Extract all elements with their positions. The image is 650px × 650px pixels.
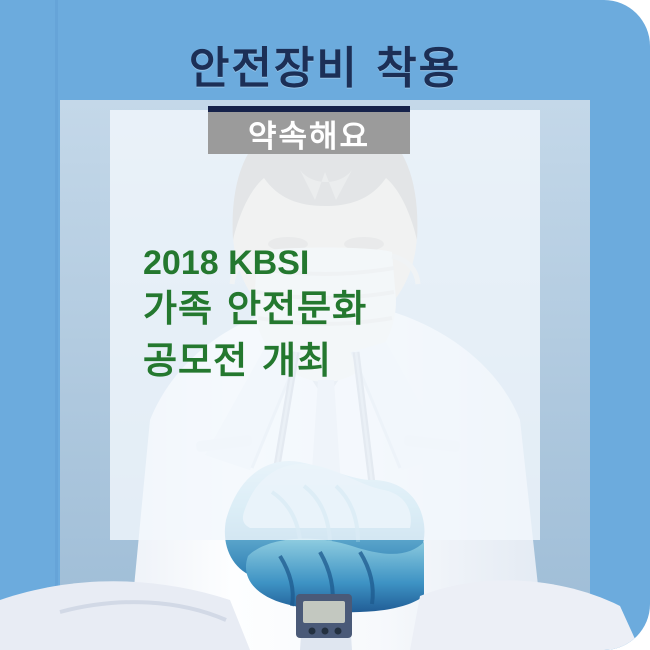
main-title: 2018 KBSI 가족 안전문화 공모전 개최 <box>143 243 543 387</box>
promise-banner-label: 약속해요 <box>208 112 410 154</box>
title-line-3: 공모전 개최 <box>143 335 543 387</box>
promise-banner: 약속해요 <box>208 106 410 154</box>
header-slogan: 안전장비 착용 <box>0 32 650 96</box>
title-line-1: 2018 KBSI <box>143 243 543 283</box>
poster-canvas: 안전장비 착용 약속해요 2018 KBSI 가족 안전문화 공모전 개최 <box>0 0 650 650</box>
poster-background: 안전장비 착용 약속해요 2018 KBSI 가족 안전문화 공모전 개최 <box>0 0 650 650</box>
title-line-2: 가족 안전문화 <box>143 283 543 335</box>
